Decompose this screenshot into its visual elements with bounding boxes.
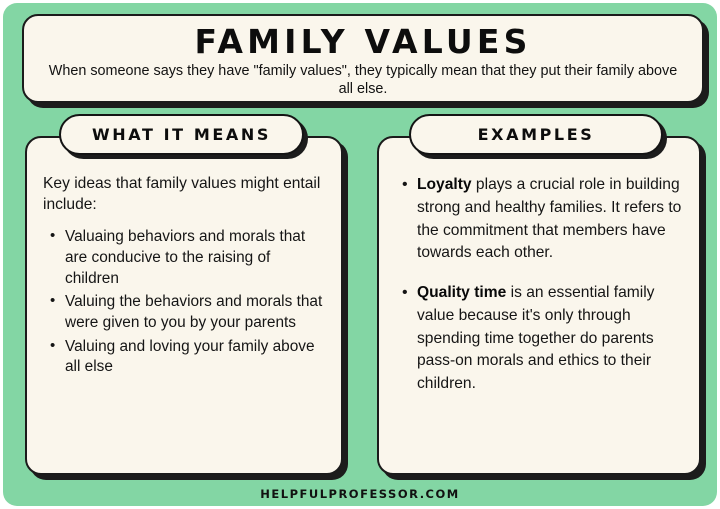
section-header-examples: EXAMPLES [409, 114, 663, 155]
what-it-means-intro: Key ideas that family values might entai… [43, 174, 325, 215]
what-it-means-card: Key ideas that family values might entai… [25, 136, 343, 475]
list-item-lead: Quality time [417, 284, 506, 301]
header-card: FAMILY VALUES When someone says they hav… [22, 14, 704, 103]
poster-background: FAMILY VALUES When someone says they hav… [3, 3, 717, 506]
list-item-lead: Loyalty [417, 176, 472, 193]
examples-list: Loyalty plays a crucial role in building… [395, 174, 685, 396]
what-it-means-list: Valuaing behaviors and morals that are c… [43, 227, 325, 377]
list-item: Valuaing behaviors and morals that are c… [65, 227, 325, 289]
list-item: Valuing and loving your family above all… [65, 337, 325, 378]
list-item: Loyalty plays a crucial role in building… [417, 174, 685, 265]
section-header-what-it-means: WHAT IT MEANS [59, 114, 304, 155]
list-item: Valuing the behaviors and morals that we… [65, 292, 325, 333]
page-title: FAMILY VALUES [194, 25, 531, 60]
section-header-label: WHAT IT MEANS [92, 125, 271, 144]
footer-credit: HELPFULPROFESSOR.COM [3, 487, 717, 501]
list-item: Quality time is an essential family valu… [417, 282, 685, 396]
examples-card: Loyalty plays a crucial role in building… [377, 136, 701, 475]
page-subtitle: When someone says they have "family valu… [43, 62, 683, 99]
section-header-label: EXAMPLES [478, 125, 595, 144]
